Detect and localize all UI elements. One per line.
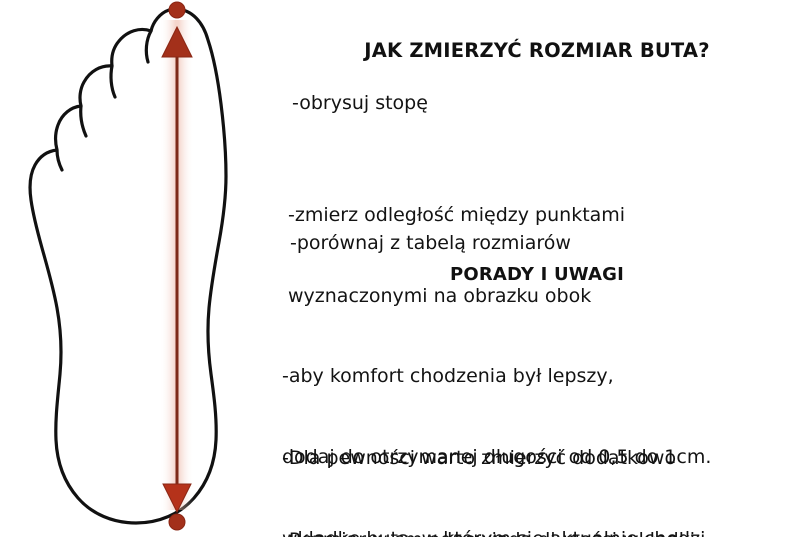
- shoe-size-measuring-guide: JAK ZMIERZYĆ ROZMIAR BUTA? -obrysuj stop…: [0, 0, 804, 537]
- foot-outline-path: [30, 9, 226, 523]
- tip-3-text: -Rozmiar w cm odpowiada długości wkładki…: [282, 473, 695, 537]
- step-1-text: -obrysuj stopę: [292, 90, 428, 117]
- step-3-text: -porównaj z tabelą rozmiarów: [290, 230, 571, 257]
- step-2-line-1: -zmierz odległość między punktami: [288, 202, 625, 229]
- step-2-line-2: wyznaczonymi na obrazku obok: [288, 283, 625, 310]
- page-title: JAK ZMIERZYĆ ROZMIAR BUTA?: [270, 39, 804, 62]
- tip-3-line-1: -Rozmiar w cm odpowiada długości wkładki: [282, 527, 695, 537]
- tips-section-title: PORADY I UWAGI: [270, 264, 804, 285]
- top-measurement-point: [169, 2, 185, 18]
- bottom-measurement-point: [169, 514, 185, 530]
- instructions-panel: JAK ZMIERZYĆ ROZMIAR BUTA? -obrysuj stop…: [270, 0, 804, 537]
- tip-1-line-1: -aby komfort chodzenia był lepszy,: [282, 363, 711, 390]
- foot-diagram: [0, 0, 270, 537]
- tip-2-line-1: -Dla pewności warto zmierzyć dodatkowo: [282, 445, 711, 472]
